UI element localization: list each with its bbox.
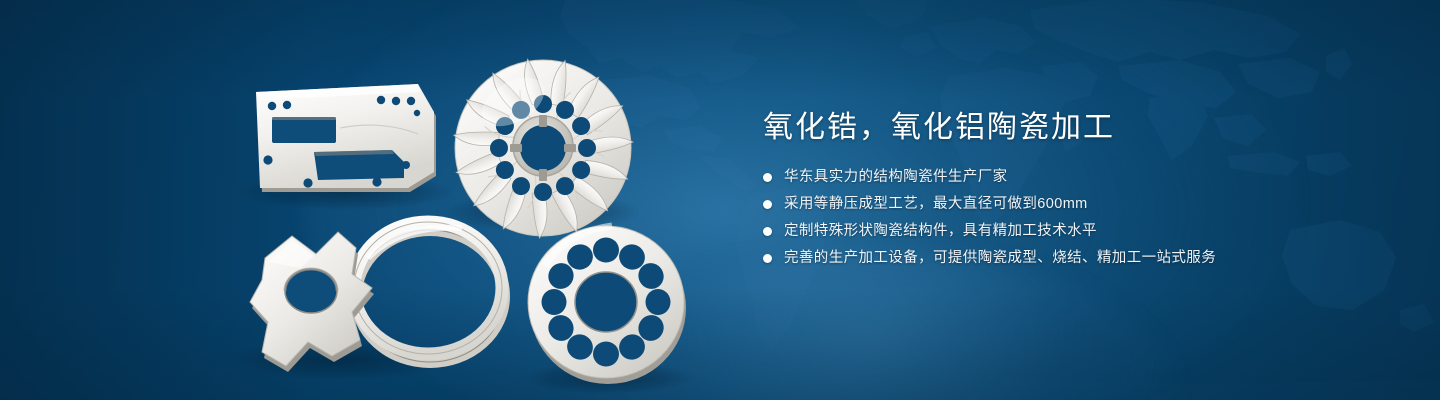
bullet-dot-icon (763, 227, 772, 236)
page-title: 氧化锆，氧化铝陶瓷加工 (763, 108, 1363, 148)
list-item: 完善的生产加工设备，可提供陶瓷成型、烧结、精加工一站式服务 (763, 247, 1363, 269)
ceramic-perforated-disc (528, 226, 686, 384)
feature-text: 华东具实力的结构陶瓷件生产厂家 (784, 166, 1008, 188)
bullet-dot-icon (763, 200, 772, 209)
ceramic-thin-ring (354, 222, 504, 362)
feature-text: 完善的生产加工设备，可提供陶瓷成型、烧结、精加工一站式服务 (784, 247, 1216, 269)
promo-banner: 氧化锆，氧化铝陶瓷加工 华东具实力的结构陶瓷件生产厂家 采用等静压成型工艺，最大… (0, 0, 1440, 400)
list-item: 定制特殊形状陶瓷结构件，具有精加工技术水平 (763, 220, 1363, 242)
ceramic-machined-plate (256, 84, 436, 192)
feature-text: 采用等静压成型工艺，最大直径可做到600mm (784, 193, 1088, 215)
feature-list: 华东具实力的结构陶瓷件生产厂家 采用等静压成型工艺，最大直径可做到600mm 定… (763, 166, 1363, 269)
feature-text: 定制特殊形状陶瓷结构件，具有精加工技术水平 (784, 220, 1097, 242)
banner-copy: 氧化锆，氧化铝陶瓷加工 华东具实力的结构陶瓷件生产厂家 采用等静压成型工艺，最大… (763, 108, 1363, 274)
bullet-dot-icon (763, 254, 772, 263)
list-item: 华东具实力的结构陶瓷件生产厂家 (763, 166, 1363, 188)
ceramic-products-image (0, 0, 740, 400)
list-item: 采用等静压成型工艺，最大直径可做到600mm (763, 193, 1363, 215)
bullet-dot-icon (763, 173, 772, 182)
